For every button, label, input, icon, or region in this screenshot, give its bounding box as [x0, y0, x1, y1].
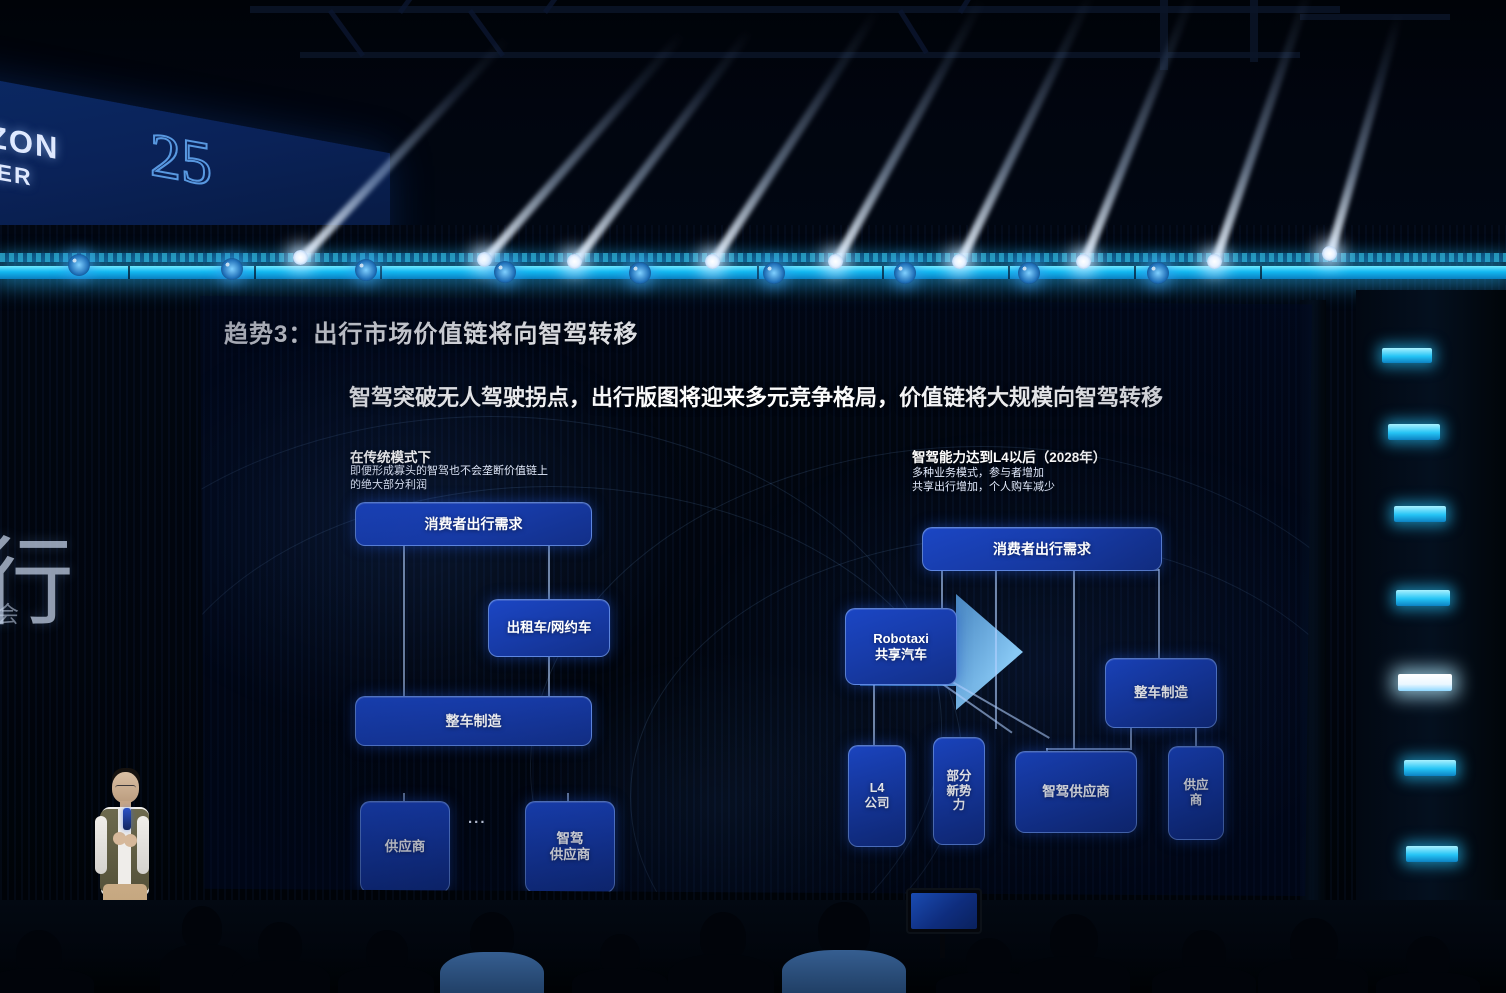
microphone [123, 808, 131, 830]
audience-shoulders [1152, 966, 1256, 993]
tower-led [1398, 674, 1452, 691]
audience-shoulders [232, 960, 330, 993]
spotlight-lamp [477, 252, 492, 267]
pod-light [763, 262, 785, 284]
tower-led [1394, 506, 1446, 522]
tower-led [1406, 846, 1458, 862]
tower-led [1404, 760, 1456, 776]
wall-character-2: 会 [0, 595, 19, 629]
led-segment-gap [254, 266, 256, 279]
spotlight-lamp [293, 250, 308, 265]
led-segment-gap [757, 266, 759, 279]
pod-light [494, 261, 516, 283]
spotlight-lamp [1207, 254, 1222, 269]
audience-shoulders [1376, 972, 1480, 993]
audience-shoulders [668, 954, 774, 993]
pod-light [355, 259, 377, 281]
ceiling-banner-year: 25 [150, 120, 212, 202]
screen-vignette [200, 296, 1312, 896]
phone-screen [911, 893, 977, 929]
pod-light [894, 262, 916, 284]
audience-shoulders-lit [782, 950, 906, 993]
spotlight-lamp [567, 254, 582, 269]
pod-light [1147, 262, 1169, 284]
audience-shoulders-lit [440, 952, 544, 993]
audience-shoulders [338, 966, 434, 993]
tower-led [1396, 590, 1450, 606]
speaker-glasses [115, 785, 136, 791]
spotlight-lamp [1076, 254, 1091, 269]
led-segment-gap [1008, 266, 1010, 279]
presentation-screen: 趋势3：出行市场价值链将向智驾转移 智驾突破无人驾驶拐点，出行版图将迎来多元竞争… [200, 296, 1312, 896]
pod-light [1018, 262, 1040, 284]
pod-light [221, 258, 243, 280]
tower-led [1382, 348, 1432, 363]
truss-bar [1300, 14, 1450, 20]
pod-light [68, 254, 90, 276]
truss-bar [250, 6, 1340, 13]
stage-scene: ZON HER 25 行 会 [0, 0, 1506, 993]
spotlight-lamp [952, 254, 967, 269]
led-segment-gap [128, 266, 130, 279]
audience-phone [906, 888, 982, 934]
led-segment-gap [1134, 266, 1136, 279]
spotlight-lamp [705, 254, 720, 269]
led-segment-gap [1260, 266, 1262, 279]
spotlight-lamp [1322, 246, 1337, 261]
audience-shoulders [0, 968, 94, 993]
speaker-arm-right [137, 816, 149, 874]
truss-post [1250, 0, 1258, 62]
led-segment-gap [882, 266, 884, 279]
audience-shoulders [1258, 958, 1368, 993]
pod-light [629, 262, 651, 284]
audience-shoulders [572, 968, 668, 993]
audience-shoulders [1018, 956, 1130, 993]
speaker-arm-left [95, 816, 107, 874]
tower-led [1388, 424, 1440, 440]
led-segment-gap [380, 266, 382, 279]
speaker-hand [124, 834, 137, 847]
spotlight-lamp [828, 254, 843, 269]
truss-bar [300, 52, 1300, 58]
